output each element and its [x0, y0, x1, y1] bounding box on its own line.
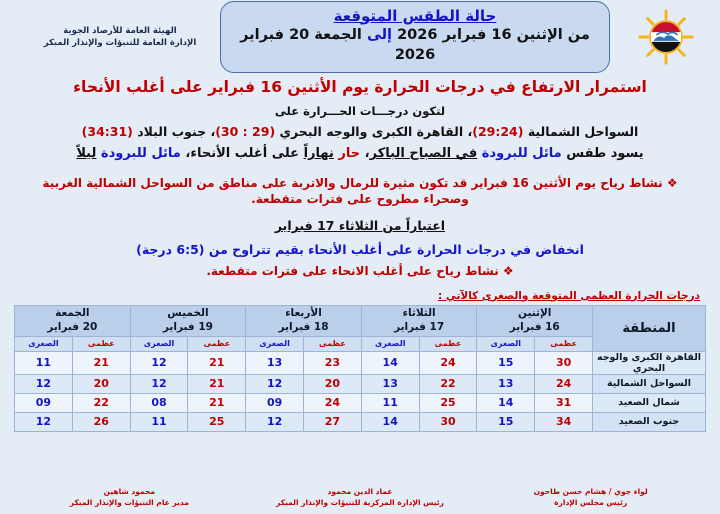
tuesday-temperature-drop: انخفاض في درجات الحرارة على أغلب الأنحاء… [10, 242, 710, 257]
day-name-4: الجمعة [15, 307, 130, 320]
day-name-3: الخميس [131, 307, 246, 320]
subheader-max-3: عظمى [188, 336, 246, 351]
egypt-meteorological-authority-logo [637, 8, 695, 66]
cell-max-r0-d0: 30 [535, 351, 593, 374]
region-name-2: شمال الصعيد [593, 393, 706, 412]
cell-min-r1-d2: 12 [246, 374, 304, 393]
daily-condition-line: يسود طقس مائل للبرودة في الصباح الباكر، … [10, 146, 710, 162]
temperatures-intro: لتكون درجـــات الحـــرارة على [10, 104, 710, 118]
cell-max-r1-d1: 22 [419, 374, 477, 393]
forecast-body: استمرار الارتفاع في درجات الحرارة يوم ال… [0, 78, 720, 279]
tuesday-section-heading: اعتباراً من الثلاثاء 17 فبراير [10, 218, 710, 233]
cell-min-r3-d0: 15 [477, 412, 535, 431]
column-header-day-4: الجمعة 20 فبراير [15, 305, 131, 336]
signature-role-2: مدير عام التنبؤات والإنذار المبكر [14, 497, 245, 508]
cell-max-r2-d1: 25 [419, 393, 477, 412]
cell-max-r1-d3: 21 [188, 374, 246, 393]
cell-max-r3-d4: 26 [72, 412, 130, 431]
cell-max-r3-d2: 27 [304, 412, 362, 431]
forecast-table-body: القاهرة الكبرى والوجه البحري 30 15 24 14… [15, 351, 706, 431]
cell-max-r2-d4: 22 [72, 393, 130, 412]
page-header: حالة الطقس المتوقعة من الإثنين 16 فبراير… [0, 0, 720, 70]
report-date-range: من الإثنين 16 فبراير 2026 إلى الجمعة 20 … [227, 26, 603, 65]
cell-max-r0-d3: 21 [188, 351, 246, 374]
organization-line-2: الإدارة العامة للتنبؤات والإنذار المبكر [30, 37, 210, 49]
forecast-table-head: المنطقة الإثنين 16 فبراير الثلاثاء 17 فب… [15, 305, 706, 351]
tuesday-wind-text: نشاط رياح على أغلب الانحاء على فترات متق… [206, 264, 498, 278]
subheader-min-4: الصغرى [15, 336, 73, 351]
temperature-ranges-line: السواحل الشمالية (29:24)، القاهرة الكبرى… [10, 124, 710, 139]
condition-morning-time: في الصباح الباكر [370, 146, 478, 161]
wind-alert-monday: ❖ نشاط رياح يوم الأثنين 16 فبراير قد تكو… [10, 175, 710, 207]
cell-max-r2-d2: 24 [304, 393, 362, 412]
subheader-max-1: عظمى [419, 336, 477, 351]
table-row: القاهرة الكبرى والوجه البحري 30 15 24 14… [15, 351, 706, 374]
day-name-2: الأربعاء [246, 307, 361, 320]
day-date-2: 18 فبراير [246, 321, 361, 334]
bullet-icon: ❖ [503, 264, 514, 278]
day-date-0: 16 فبراير [477, 321, 592, 334]
subheader-max-4: عظمى [72, 336, 130, 351]
subheader-min-1: الصغرى [361, 336, 419, 351]
forecast-table: المنطقة الإثنين 16 فبراير الثلاثاء 17 فب… [14, 305, 706, 432]
condition-prefix: يسود طقس [566, 146, 643, 161]
organization-name: الهيئة العامة للأرصاد الجوية الإدارة الع… [30, 25, 210, 50]
cell-min-r2-d1: 11 [361, 393, 419, 412]
report-title-box: حالة الطقس المتوقعة من الإثنين 16 فبراير… [220, 1, 610, 74]
date-range-connector: إلى [367, 27, 392, 43]
subheader-max-2: عظمى [304, 336, 362, 351]
cell-max-r0-d1: 24 [419, 351, 477, 374]
cell-min-r1-d0: 13 [477, 374, 535, 393]
condition-areas: على أغلب الأنحاء، [185, 146, 299, 161]
date-range-from: من الإثنين 16 فبراير 2026 [397, 27, 590, 43]
wind-alert-monday-line1: نشاط رياح يوم الأثنين 16 فبراير قد تكون … [42, 176, 662, 190]
day-date-1: 17 فبراير [362, 321, 477, 334]
cell-min-r3-d3: 11 [130, 412, 188, 431]
cell-max-r3-d1: 30 [419, 412, 477, 431]
cairo-delta-label: ، القاهرة الكبرى والوجه البحري [280, 124, 473, 139]
day-name-1: الثلاثاء [362, 307, 477, 320]
tuesday-wind-alert: ❖ نشاط رياح على أغلب الانحاء على فترات م… [10, 264, 710, 279]
cell-max-r1-d0: 24 [535, 374, 593, 393]
table-row: شمال الصعيد 31 14 25 11 24 09 21 08 22 0… [15, 393, 706, 412]
cell-min-r2-d4: 09 [15, 393, 73, 412]
cell-min-r0-d0: 15 [477, 351, 535, 374]
region-name-0: القاهرة الكبرى والوجه البحري [593, 351, 706, 374]
condition-cool-morning: مائل للبرودة [482, 146, 562, 161]
day-date-4: 20 فبراير [15, 321, 130, 334]
signature-role-1: رئيس الإدارة المركزية للتنبؤات والإنذار … [245, 497, 476, 508]
cell-min-r1-d1: 13 [361, 374, 419, 393]
forecast-table-container: المنطقة الإثنين 16 فبراير الثلاثاء 17 فب… [0, 305, 720, 432]
condition-hot: حار [338, 146, 360, 161]
region-name-3: جنوب الصعيد [593, 412, 706, 431]
south-label: ، جنوب البلاد [137, 124, 215, 139]
subheader-min-0: الصغرى [477, 336, 535, 351]
table-row: السواحل الشمالية 24 13 22 13 20 12 21 12… [15, 374, 706, 393]
cell-min-r0-d2: 13 [246, 351, 304, 374]
bullet-icon: ❖ [667, 176, 678, 190]
condition-cool-night: مائل للبرودة [101, 146, 181, 161]
cell-min-r3-d2: 12 [246, 412, 304, 431]
condition-nighttime: ليلاً [76, 146, 96, 161]
column-header-day-3: الخميس 19 فبراير [130, 305, 246, 336]
signature-role-0: رئيس مجلس الإدارة [475, 497, 706, 508]
cell-min-r2-d2: 09 [246, 393, 304, 412]
region-name-1: السواحل الشمالية [593, 374, 706, 393]
signature-block-central-head: عماد الدين محمود رئيس الإدارة المركزية ل… [245, 486, 476, 509]
signature-name-0: لواء جوي / هشام حسن طاحون [475, 486, 706, 497]
south-range: (34:31) [82, 124, 133, 139]
cell-max-r0-d4: 21 [72, 351, 130, 374]
subheader-max-0: عظمى [535, 336, 593, 351]
cell-min-r3-d1: 14 [361, 412, 419, 431]
cell-max-r3-d3: 25 [188, 412, 246, 431]
signature-name-1: عماد الدين محمود [245, 486, 476, 497]
subheader-min-2: الصغرى [246, 336, 304, 351]
north-coast-label: السواحل الشمالية [528, 124, 639, 139]
cell-min-r2-d0: 14 [477, 393, 535, 412]
logo-container [620, 8, 712, 66]
cell-max-r2-d3: 21 [188, 393, 246, 412]
north-coast-range: (29:24) [472, 124, 523, 139]
cell-max-r0-d2: 23 [304, 351, 362, 374]
cell-min-r0-d1: 14 [361, 351, 419, 374]
cairo-delta-range: (29 : 30) [215, 124, 275, 139]
table-row: جنوب الصعيد 34 15 30 14 27 12 25 11 26 1… [15, 412, 706, 431]
wind-alert-monday-line2: وصحراء مطروح على فترات متقطعة. [251, 192, 469, 206]
cell-min-r2-d3: 08 [130, 393, 188, 412]
cell-min-r1-d4: 12 [15, 374, 73, 393]
column-header-region: المنطقة [593, 305, 706, 351]
cell-min-r0-d3: 12 [130, 351, 188, 374]
column-header-day-0: الإثنين 16 فبراير [477, 305, 593, 336]
page-title: حالة الطقس المتوقعة [227, 7, 603, 26]
cell-max-r1-d4: 20 [72, 374, 130, 393]
cell-min-r1-d3: 12 [130, 374, 188, 393]
table-header-row-days: المنطقة الإثنين 16 فبراير الثلاثاء 17 فب… [15, 305, 706, 336]
page-footer: لواء جوي / هشام حسن طاحون رئيس مجلس الإد… [0, 486, 720, 509]
table-caption: درجات الحرارة العظمى المتوقعة والصغرى كا… [0, 290, 720, 302]
signature-name-2: محمود شاهين [14, 486, 245, 497]
day-date-3: 19 فبراير [131, 321, 246, 334]
signature-block-forecast-director: محمود شاهين مدير عام التنبؤات والإنذار ا… [14, 486, 245, 509]
column-header-day-2: الأربعاء 18 فبراير [246, 305, 362, 336]
day-name-0: الإثنين [477, 307, 592, 320]
organization-line-1: الهيئة العامة للأرصاد الجوية [30, 25, 210, 37]
forecast-page: حالة الطقس المتوقعة من الإثنين 16 فبراير… [0, 0, 720, 514]
cell-max-r3-d0: 34 [535, 412, 593, 431]
condition-daytime: نهاراً [304, 146, 334, 161]
subheader-min-3: الصغرى [130, 336, 188, 351]
headline-text: استمرار الارتفاع في درجات الحرارة يوم ال… [10, 78, 710, 97]
signature-block-chairman: لواء جوي / هشام حسن طاحون رئيس مجلس الإد… [475, 486, 706, 509]
cell-min-r3-d4: 12 [15, 412, 73, 431]
cell-min-r0-d4: 11 [15, 351, 73, 374]
column-header-day-1: الثلاثاء 17 فبراير [361, 305, 477, 336]
cell-max-r1-d2: 20 [304, 374, 362, 393]
cell-max-r2-d0: 31 [535, 393, 593, 412]
